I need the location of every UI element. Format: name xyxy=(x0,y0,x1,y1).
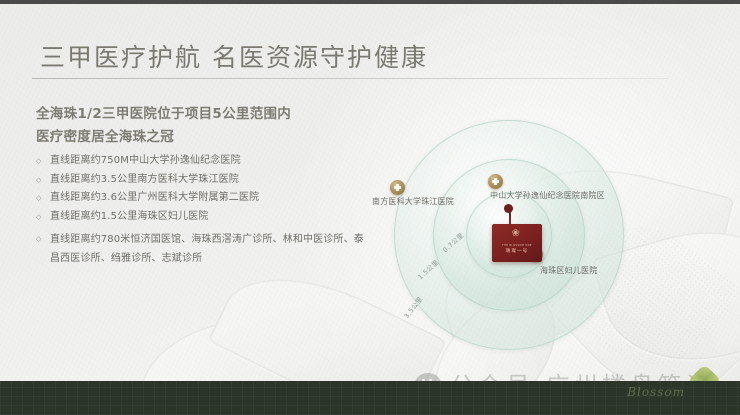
clinic-note: 直线距离约780米恒济国医馆、海珠西滘涛广诊所、林和中医诊所、泰昌西医诊所、绉雅… xyxy=(36,230,366,268)
footer-script-logo: Blossom xyxy=(627,385,685,399)
pin-label-haizhu: 海珠区妇儿医院 xyxy=(540,265,597,276)
hospital-cross-icon[interactable] xyxy=(390,180,405,195)
project-name-en: THE BLOSSOM ONE xyxy=(502,244,532,247)
lead-line-1: 全海珠1/2三甲医院位于项目5公里范围内 xyxy=(36,103,376,125)
project-name-cn: 璀璨一号 xyxy=(506,248,528,254)
list-item: 直线距离约1.5公里海珠区妇儿医院 xyxy=(36,208,386,227)
pin-label-zhujiang: 南方医科大学珠江医院 xyxy=(372,196,454,207)
footer-bar: Blossom xyxy=(0,381,740,415)
list-item: 直线距离约3.6公里广州医科大学附属第二医院 xyxy=(36,189,386,208)
pin-label-sunyatsen: 中山大学孙逸仙纪念医院南院区 xyxy=(490,190,610,201)
flower-petal xyxy=(136,313,334,381)
title-divider xyxy=(32,78,668,79)
hospital-cross-icon[interactable] xyxy=(488,174,503,189)
slide-canvas: 三甲医疗护航 名医资源守护健康 全海珠1/2三甲医院位于项目5公里范围内 医疗密… xyxy=(0,4,740,381)
project-marker-plaque[interactable]: THE BLOSSOM ONE 璀璨一号 xyxy=(492,224,542,262)
hospital-distance-list: 直线距离约750M中山大学孙逸仙纪念医院 直线距离约3.5公里南方医科大学珠江医… xyxy=(36,152,386,226)
radius-map-diagram: 0.7公里 1.5公里 3.5公里 南方医科大学珠江医院 中山大学孙逸仙纪念医院… xyxy=(380,112,740,381)
page-title: 三甲医疗护航 名医资源守护健康 xyxy=(40,38,428,74)
flower-emblem-icon xyxy=(513,233,522,242)
list-item: 直线距离约3.5公里南方医科大学珠江医院 xyxy=(36,171,386,190)
lead-paragraph: 全海珠1/2三甲医院位于项目5公里范围内 医疗密度居全海珠之冠 xyxy=(36,103,376,148)
list-item: 直线距离约750M中山大学孙逸仙纪念医院 xyxy=(36,152,386,171)
clover-logo-icon xyxy=(690,367,720,381)
lead-line-2: 医疗密度居全海珠之冠 xyxy=(36,126,376,148)
